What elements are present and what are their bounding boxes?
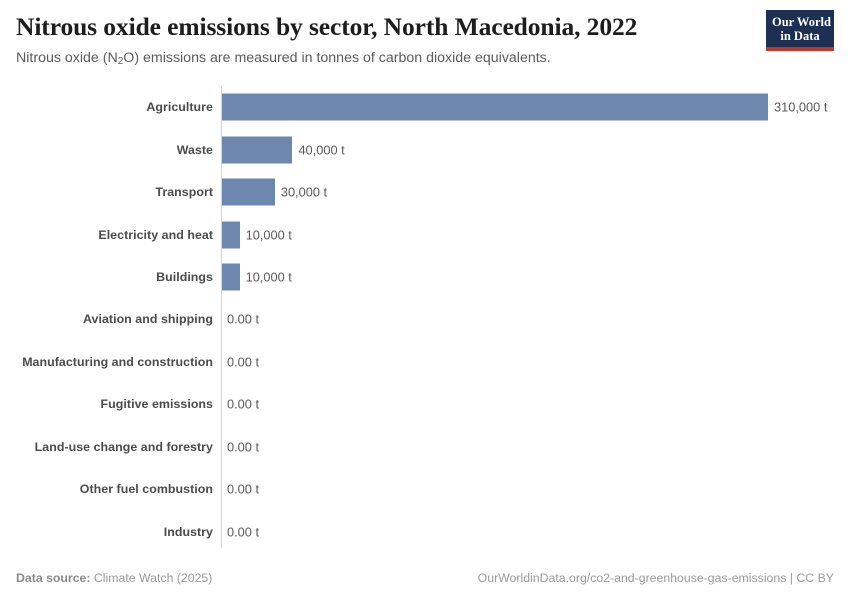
bar-and-value: 0.00 t [222, 348, 259, 375]
bar-and-value: 10,000 t [222, 263, 292, 290]
bar-category-label: Industry [0, 525, 213, 539]
bar-row[interactable]: Agriculture310,000 t [0, 86, 850, 128]
bar-category-label: Agriculture [0, 100, 213, 114]
bar-and-value: 0.00 t [222, 433, 259, 460]
data-source: Data source: Climate Watch (2025) [16, 571, 212, 585]
bar-row[interactable]: Waste40,000 t [0, 128, 850, 170]
bar-value-label: 0.00 t [227, 524, 259, 539]
bar-row[interactable]: Land-use change and forestry0.00 t [0, 426, 850, 468]
bar-row[interactable]: Industry0.00 t [0, 510, 850, 552]
logo-line-1: Our World [772, 15, 828, 29]
logo-line-2: in Data [772, 29, 828, 43]
bar[interactable] [222, 221, 240, 248]
bar-and-value: 0.00 t [222, 476, 259, 503]
bar-category-label: Other fuel combustion [0, 482, 213, 496]
bar-value-label: 0.00 t [227, 312, 259, 327]
bar-chart-plot-area: Agriculture310,000 tWaste40,000 tTranspo… [0, 86, 850, 551]
bar-value-label: 10,000 t [246, 269, 292, 284]
our-world-in-data-logo[interactable]: Our World in Data [766, 10, 834, 51]
bar-row[interactable]: Aviation and shipping0.00 t [0, 298, 850, 340]
bar-value-label: 30,000 t [281, 185, 327, 200]
chart-footer: Data source: Climate Watch (2025) OurWor… [16, 571, 834, 587]
bar[interactable] [222, 94, 768, 121]
bar-row[interactable]: Manufacturing and construction0.00 t [0, 341, 850, 383]
bar-category-label: Buildings [0, 270, 213, 284]
bar-and-value: 310,000 t [222, 94, 827, 121]
bar-row[interactable]: Other fuel combustion0.00 t [0, 468, 850, 510]
page-title: Nitrous oxide emissions by sector, North… [16, 12, 834, 42]
bar-and-value: 30,000 t [222, 179, 327, 206]
bar-row[interactable]: Fugitive emissions0.00 t [0, 383, 850, 425]
chart-page: Nitrous oxide emissions by sector, North… [0, 0, 850, 600]
bar-and-value: 0.00 t [222, 306, 259, 333]
data-source-value: Climate Watch (2025) [91, 571, 213, 585]
bar-category-label: Land-use change and forestry [0, 440, 213, 454]
bar-value-label: 10,000 t [246, 227, 292, 242]
bar-and-value: 0.00 t [222, 391, 259, 418]
bar-category-label: Transport [0, 185, 213, 199]
bar-row[interactable]: Electricity and heat10,000 t [0, 213, 850, 255]
bar-value-label: 310,000 t [774, 100, 827, 115]
subtitle-subscript: 2 [118, 56, 124, 67]
bar[interactable] [222, 136, 292, 163]
bar-value-label: 0.00 t [227, 439, 259, 454]
bar[interactable] [222, 263, 240, 290]
bar-and-value: 0.00 t [222, 518, 259, 545]
bar-category-label: Manufacturing and construction [0, 355, 213, 369]
bar[interactable] [222, 179, 275, 206]
source-url-license[interactable]: OurWorldinData.org/co2-and-greenhouse-ga… [478, 571, 834, 585]
chart-header: Nitrous oxide emissions by sector, North… [16, 12, 834, 69]
data-source-label: Data source: [16, 571, 91, 585]
bar-value-label: 40,000 t [298, 142, 344, 157]
bar-value-label: 0.00 t [227, 354, 259, 369]
bar-value-label: 0.00 t [227, 482, 259, 497]
bar-category-label: Waste [0, 143, 213, 157]
bar-row[interactable]: Transport30,000 t [0, 171, 850, 213]
bar-category-label: Fugitive emissions [0, 397, 213, 411]
subtitle-part-2: O) emissions are measured in tonnes of c… [123, 50, 550, 66]
chart-subtitle: Nitrous oxide (N2O) emissions are measur… [16, 49, 834, 69]
bar-value-label: 0.00 t [227, 397, 259, 412]
subtitle-part-1: Nitrous oxide (N [16, 50, 118, 66]
bar-category-label: Aviation and shipping [0, 312, 213, 326]
bar-and-value: 10,000 t [222, 221, 292, 248]
bar-rows-container: Agriculture310,000 tWaste40,000 tTranspo… [0, 86, 850, 553]
bar-and-value: 40,000 t [222, 136, 345, 163]
bar-row[interactable]: Buildings10,000 t [0, 256, 850, 298]
bar-category-label: Electricity and heat [0, 228, 213, 242]
